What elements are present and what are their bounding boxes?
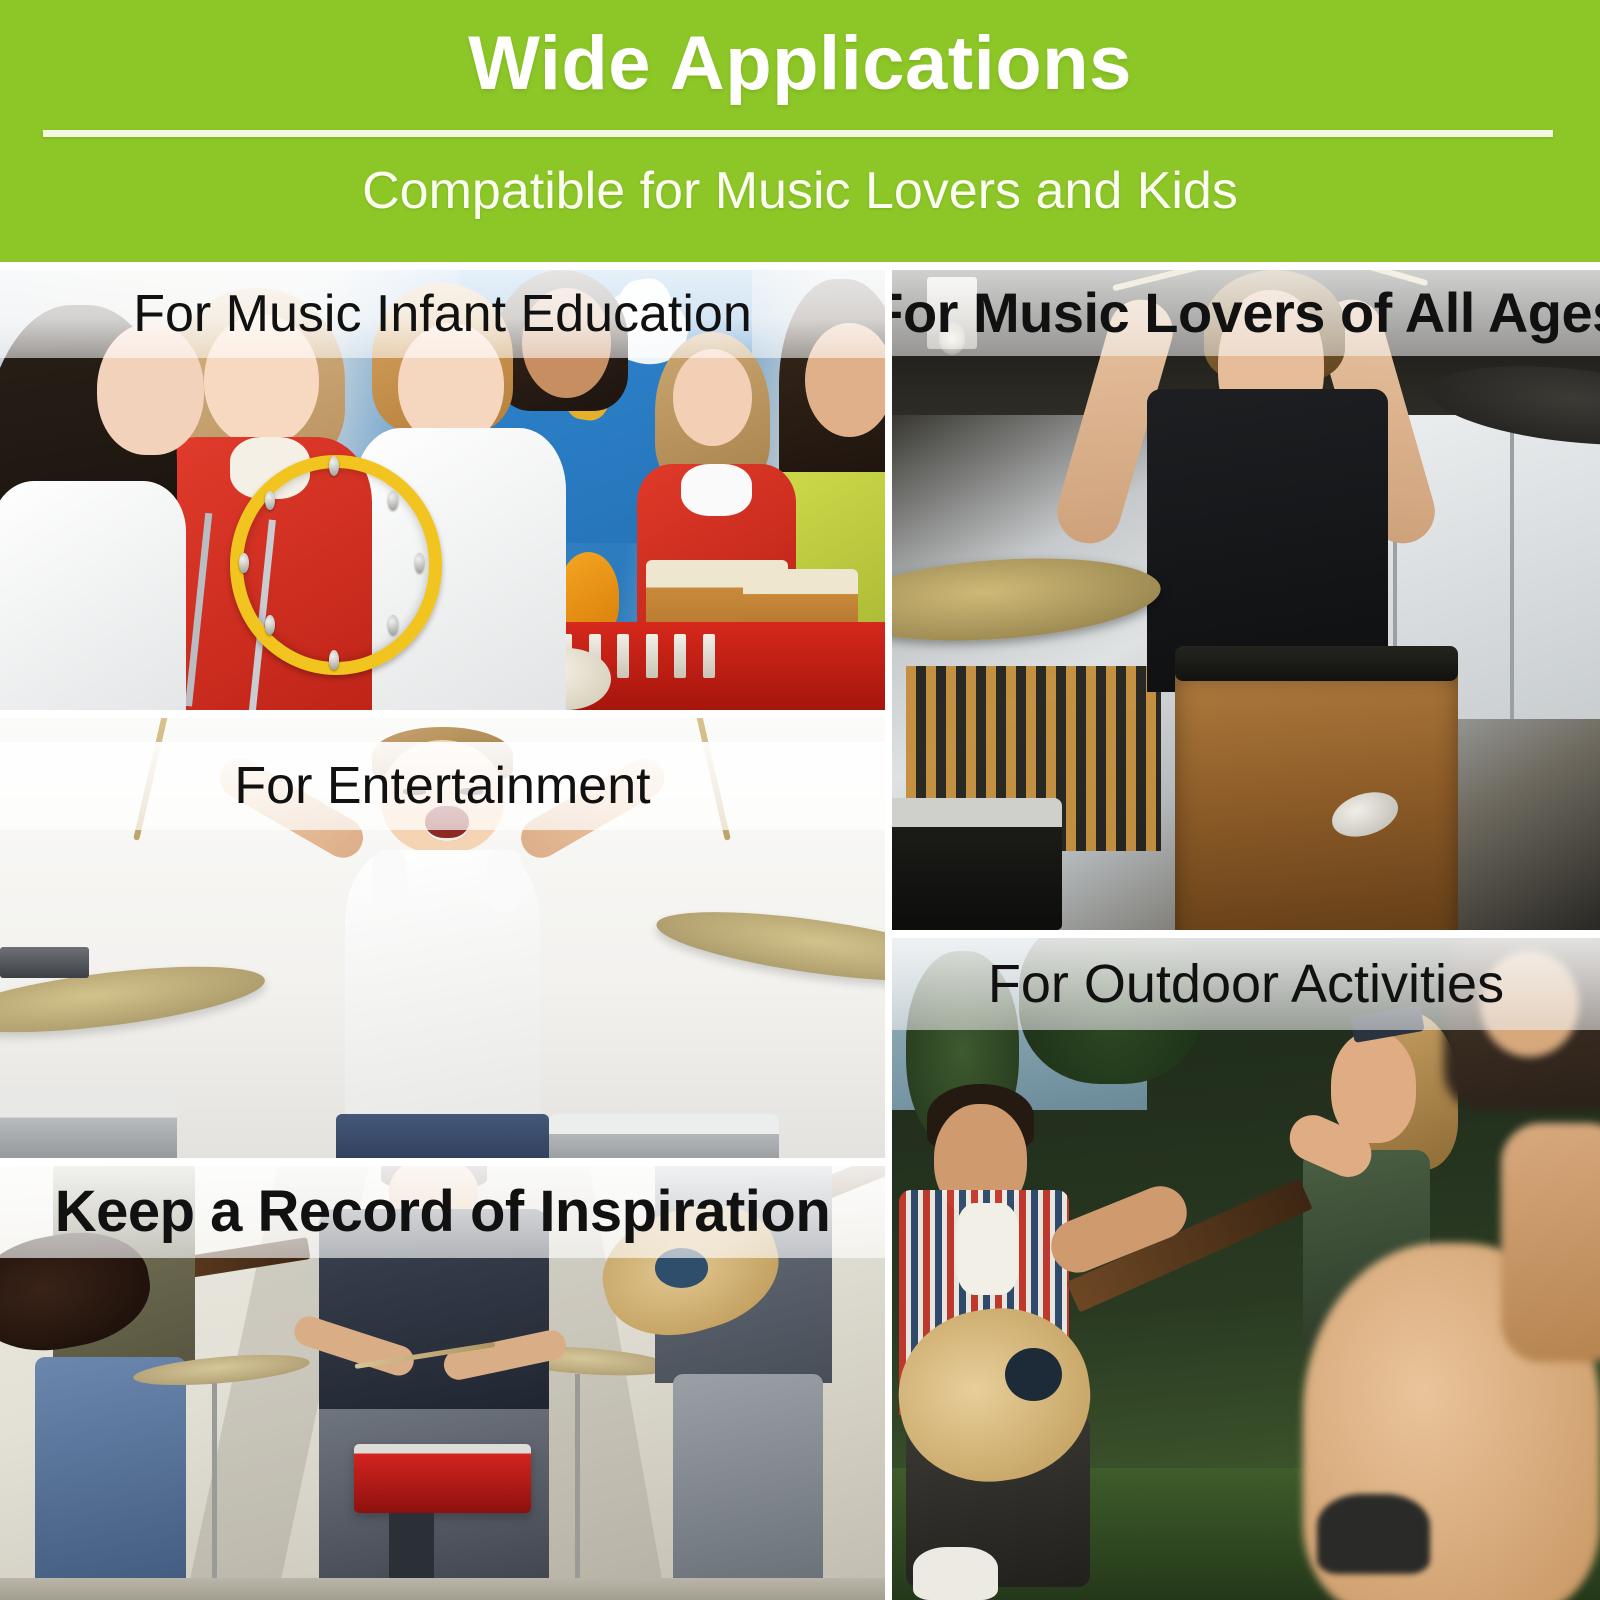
- panel-grid: For Music Infant Education For Entertain…: [0, 262, 1600, 1600]
- panel-caption-band: For Music Lovers of All Ages: [892, 270, 1600, 356]
- page-subtitle: Compatible for Music Lovers and Kids: [0, 152, 1600, 230]
- panel-music-lovers-all-ages: For Music Lovers of All Ages: [892, 270, 1600, 930]
- tambourine: [230, 455, 442, 675]
- panel-caption-text: For Outdoor Activities: [988, 957, 1504, 1011]
- header-banner: Wide Applications Compatible for Music L…: [0, 0, 1600, 262]
- panel-caption-text: Keep a Record of Inspiration: [55, 1183, 831, 1241]
- panel-caption-band: Keep a Record of Inspiration: [0, 1166, 885, 1258]
- panel-caption-text: For Music Infant Education: [133, 288, 752, 340]
- panel-caption-band: For Music Infant Education: [0, 270, 885, 358]
- panel-caption-text: For Music Lovers of All Ages: [892, 285, 1600, 341]
- panel-caption-band: For Outdoor Activities: [892, 938, 1600, 1030]
- wide-applications-infographic: Wide Applications Compatible for Music L…: [0, 0, 1600, 1600]
- header-divider: [43, 130, 1553, 137]
- panel-outdoor-activities: For Outdoor Activities: [892, 938, 1600, 1600]
- panel-music-infant-education: For Music Infant Education: [0, 270, 885, 710]
- panel-record-of-inspiration: Keep a Record of Inspiration: [0, 1166, 885, 1600]
- photo-drummer: [892, 270, 1600, 930]
- panel-entertainment: For Entertainment: [0, 718, 885, 1158]
- page-title: Wide Applications: [0, 14, 1600, 114]
- photo-outdoor-guitar: [892, 938, 1600, 1600]
- panel-caption-band: For Entertainment: [0, 742, 885, 830]
- panel-caption-text: For Entertainment: [234, 760, 650, 812]
